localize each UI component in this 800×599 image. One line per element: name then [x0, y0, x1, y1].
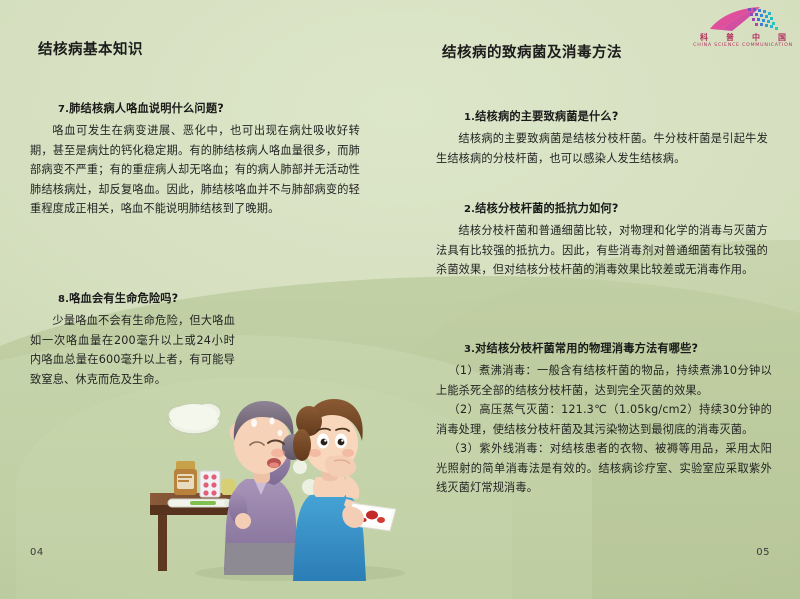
left-page-title: 结核病基本知识: [38, 38, 143, 59]
question-block-r2: 2.结核分枝杆菌的抵抗力如何? 结核分枝杆菌和普通细菌比较，对物理和化学的消毒与…: [436, 200, 768, 280]
brochure-spread: 结核病基本知识 7.肺结核病人咯血说明什么问题? 咯血可发生在病变进展、恶化中，…: [0, 0, 800, 599]
question-r1-paragraph: 结核病的主要致病菌是结核分枝杆菌。牛分枝杆菌是引起牛发生结核病的分枝杆菌，也可以…: [436, 129, 768, 168]
question-block-r1: 1.结核病的主要致病菌是什么? 结核病的主要致病菌是结核分枝杆菌。牛分枝杆菌是引…: [436, 108, 768, 168]
question-8-heading: 8.咯血会有生命危险吗?: [30, 290, 360, 306]
question-r3-item-1: （1）煮沸消毒：一般含有结核杆菌的物品，持续煮沸10分钟以上能杀死全部的结核分枝…: [436, 361, 772, 400]
question-r2-paragraph: 结核分枝杆菌和普通细菌比较，对物理和化学的消毒与灭菌方法具有比较强的抵抗力。因此…: [436, 221, 768, 280]
page-spread: 结核病基本知识 7.肺结核病人咯血说明什么问题? 咯血可发生在病变进展、恶化中，…: [0, 0, 800, 599]
right-page-number: 05: [756, 547, 770, 558]
logo-fan-icon: [692, 6, 792, 32]
question-block-r3: 3.对结核分枝杆菌常用的物理消毒方法有哪些? （1）煮沸消毒：一般含有结核杆菌的…: [436, 340, 772, 498]
question-r2-number: 2.: [464, 204, 475, 215]
logo-english-text: CHINA SCIENCE COMMUNICATION: [684, 42, 800, 47]
question-7-title: 肺结核病人咯血说明什么问题?: [69, 102, 224, 115]
china-science-communication-logo: 科 普 中 国 CHINA SCIENCE COMMUNICATION: [692, 6, 792, 52]
question-r2-body: 结核分枝杆菌和普通细菌比较，对物理和化学的消毒与灭菌方法具有比较强的抵抗力。因此…: [436, 221, 768, 280]
question-r1-body: 结核病的主要致病菌是结核分枝杆菌。牛分枝杆菌是引起牛发生结核病的分枝杆菌，也可以…: [436, 129, 768, 168]
thermometer: [168, 499, 232, 507]
question-r2-heading: 2.结核分枝杆菌的抵抗力如何?: [436, 200, 768, 216]
right-page-title: 结核病的致病菌及消毒方法: [442, 41, 622, 62]
question-r3-item-3: （3）紫外线消毒：对结核患者的衣物、被褥等用品，采用太阳光照射的简单消毒法是有效…: [436, 439, 772, 498]
question-r3-title: 对结核分枝杆菌常用的物理消毒方法有哪些?: [475, 342, 698, 355]
question-r1-number: 1.: [464, 112, 475, 123]
right-page: 科 普 中 国 CHINA SCIENCE COMMUNICATION 结核病的…: [400, 0, 800, 599]
question-r3-heading: 3.对结核分枝杆菌常用的物理消毒方法有哪些?: [436, 340, 772, 356]
question-8-number: 8.: [58, 294, 69, 305]
question-7-heading: 7.肺结核病人咯血说明什么问题?: [30, 100, 360, 116]
question-block-7: 7.肺结核病人咯血说明什么问题? 咯血可发生在病变进展、恶化中，也可出现在病灶吸…: [30, 100, 360, 219]
question-7-paragraph: 咯血可发生在病变进展、恶化中，也可出现在病灶吸收好转期，甚至是病灶的钙化稳定期。…: [30, 121, 360, 219]
question-r1-title: 结核病的主要致病菌是什么?: [475, 110, 618, 123]
question-r3-number: 3.: [464, 344, 475, 355]
medicine-bottle: [174, 461, 197, 495]
question-7-body: 咯血可发生在病变进展、恶化中，也可出现在病灶吸收好转期，甚至是病灶的钙化稳定期。…: [30, 121, 360, 219]
thought-cloud: [168, 403, 221, 434]
coughing-patients-illustration: [150, 375, 412, 581]
question-7-number: 7.: [58, 104, 69, 115]
question-8-title: 咯血会有生命危险吗?: [69, 292, 178, 305]
question-r3-body: （1）煮沸消毒：一般含有结核杆菌的物品，持续煮沸10分钟以上能杀死全部的结核分枝…: [436, 361, 772, 498]
pill-blister: [200, 471, 235, 497]
question-r1-heading: 1.结核病的主要致病菌是什么?: [436, 108, 768, 124]
question-r2-title: 结核分枝杆菌的抵抗力如何?: [475, 202, 618, 215]
question-r3-item-2: （2）高压蒸气灭菌：121.3℃（1.05kg/cm2）持续30分钟的消毒处理，…: [436, 400, 772, 439]
left-page: 结核病基本知识 7.肺结核病人咯血说明什么问题? 咯血可发生在病变进展、恶化中，…: [0, 0, 400, 599]
left-page-number: 04: [30, 547, 44, 558]
